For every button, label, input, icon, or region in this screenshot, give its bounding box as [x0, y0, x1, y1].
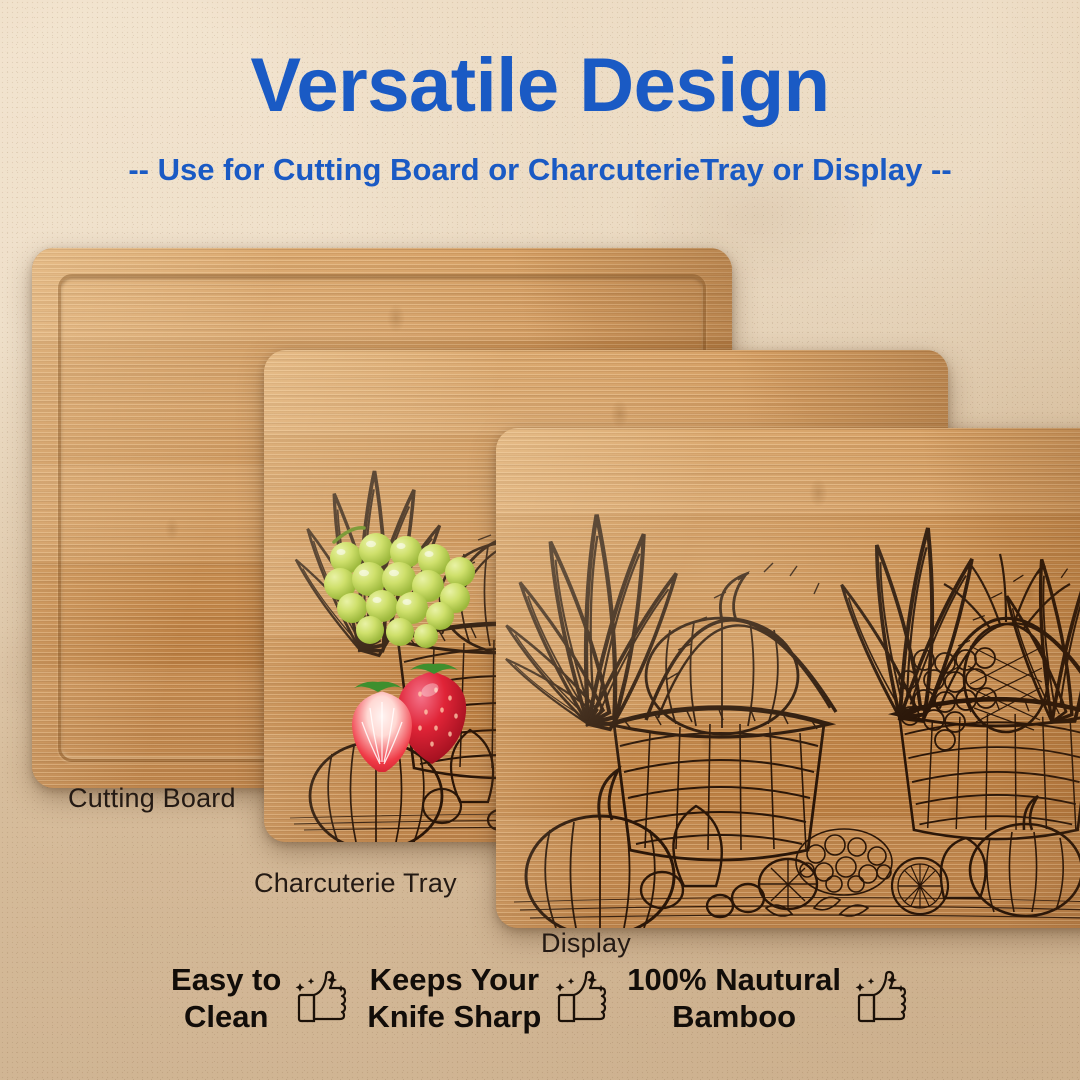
feature-label: Keeps Your Knife Sharp [367, 962, 541, 1035]
feature-line-1: 100% Nautural [627, 962, 841, 999]
product-feature-image: Versatile Design -- Use for Cutting Boar… [0, 0, 1080, 1080]
page-title: Versatile Design [0, 48, 1080, 124]
feature-line-1: Keeps Your [367, 962, 541, 999]
feature-list: Easy to Clean Keeps Your [0, 944, 1080, 1054]
thumbs-up-icon [553, 969, 609, 1029]
fresh-strawberries-photo [348, 660, 478, 772]
caption-cutting-board: Cutting Board [68, 783, 236, 814]
feature-line-2: Bamboo [627, 999, 841, 1036]
feature-line-1: Easy to [171, 962, 281, 999]
board-display [496, 428, 1080, 928]
fresh-grapes-photo [312, 524, 498, 648]
page-subtitle: -- Use for Cutting Board or CharcuterieT… [0, 152, 1080, 188]
thumbs-up-icon [853, 969, 909, 1029]
caption-charcuterie-tray: Charcuterie Tray [254, 868, 457, 899]
board-sheen [496, 428, 1080, 928]
feature-label: Easy to Clean [171, 962, 281, 1035]
feature-label: 100% Nautural Bamboo [627, 962, 841, 1035]
feature-natural-bamboo: 100% Nautural Bamboo [627, 962, 909, 1035]
feature-line-2: Knife Sharp [367, 999, 541, 1036]
feature-line-2: Clean [171, 999, 281, 1036]
thumbs-up-icon [293, 969, 349, 1029]
feature-easy-to-clean: Easy to Clean [171, 962, 349, 1035]
feature-keeps-knife-sharp: Keeps Your Knife Sharp [367, 962, 609, 1035]
